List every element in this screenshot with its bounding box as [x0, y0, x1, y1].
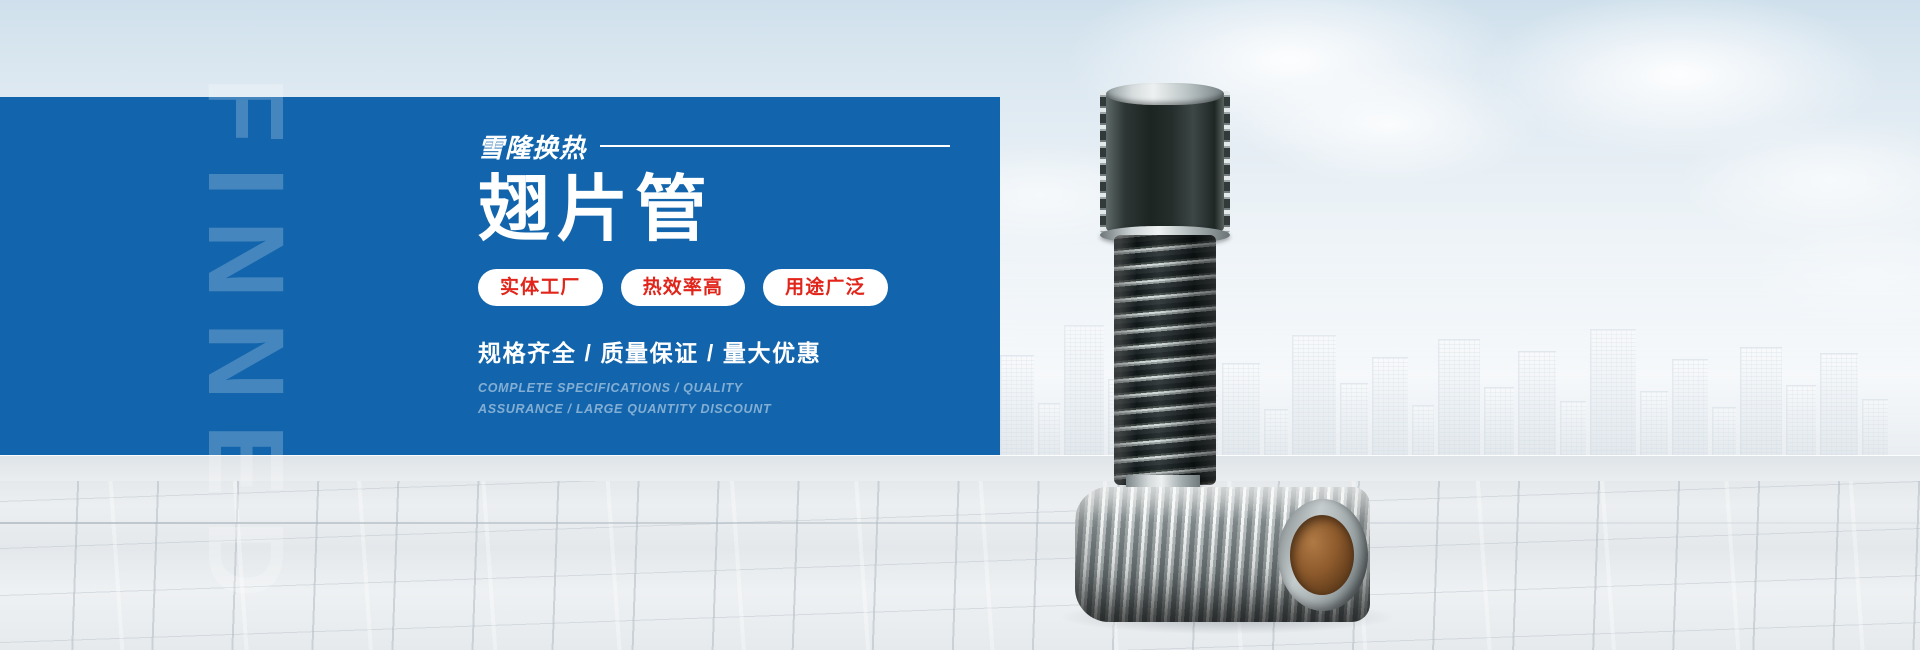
feature-badge[interactable]: 实体工厂 — [478, 269, 603, 307]
banner-stage: FINNED 雪隆换热 翅片管 实体工厂 热效率高 用途广泛 规格齐全 / 质量… — [0, 0, 1920, 650]
brand-row: 雪隆换热 — [478, 129, 998, 163]
brand-name: 雪隆换热 — [478, 128, 586, 165]
panel-content: 雪隆换热 翅片管 实体工厂 热效率高 用途广泛 规格齐全 / 质量保证 / 量大… — [478, 97, 998, 455]
tube-spiral-section — [1114, 235, 1216, 485]
blue-content-panel: FINNED 雪隆换热 翅片管 实体工厂 热效率高 用途广泛 规格齐全 / 质量… — [0, 97, 1000, 455]
subtitle-english: COMPLETE SPECIFICATIONS / QUALITY ASSURA… — [478, 378, 808, 419]
feature-badge-list: 实体工厂 热效率高 用途广泛 — [478, 269, 998, 307]
tube-top-cap — [1106, 83, 1224, 105]
tube-copper-core — [1290, 515, 1354, 595]
page-title: 翅片管 — [478, 173, 998, 249]
watermark-text: FINNED — [160, 77, 300, 650]
subtitle-chinese: 规格齐全 / 质量保证 / 量大优惠 — [478, 334, 998, 368]
brand-divider-rule — [600, 145, 950, 147]
feature-badge[interactable]: 热效率高 — [621, 269, 746, 307]
product-horizontal-finned-tube — [1075, 487, 1370, 622]
tube-upper-section — [1106, 93, 1224, 231]
feature-badge[interactable]: 用途广泛 — [763, 269, 888, 307]
product-vertical-finned-tube — [1100, 83, 1230, 487]
